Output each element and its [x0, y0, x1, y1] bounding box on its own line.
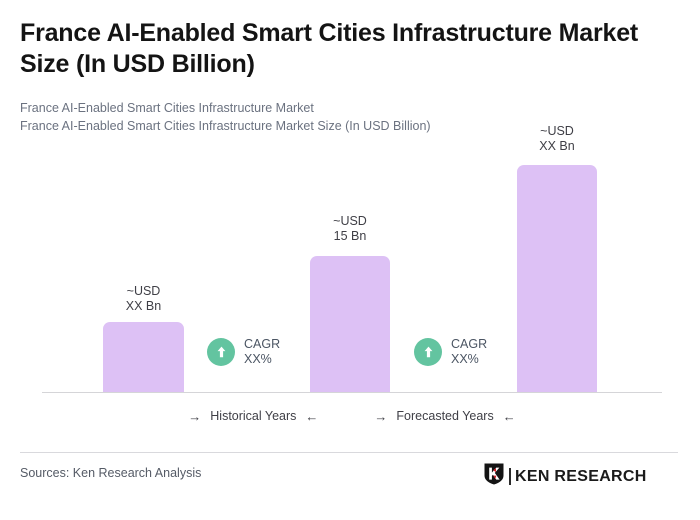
legend-forecasted-years: → Forecasted Years ←: [374, 409, 515, 423]
arrow-up-icon: [414, 338, 442, 366]
logo-divider: [509, 468, 511, 485]
cagr-label-historical: CAGR: [244, 337, 280, 352]
arrow-right-icon: →: [374, 410, 387, 423]
cagr-label-forecast: CAGR: [451, 337, 487, 352]
footer-divider: [20, 452, 678, 453]
chart-page: France AI-Enabled Smart Cities Infrastru…: [0, 0, 700, 520]
x-axis-baseline: [42, 392, 662, 393]
cagr-value-forecast: XX%: [451, 352, 487, 367]
bar-2[interactable]: [310, 256, 390, 392]
bar-value-label-2-line2: 15 Bn: [310, 229, 390, 244]
arrow-left-icon: ←: [305, 410, 318, 423]
bar-value-label-1-line1: ~USD: [103, 284, 184, 299]
ken-research-logo: KEN RESEARCH: [483, 462, 647, 491]
cagr-badge-historical: CAGR XX%: [207, 337, 280, 366]
bar-value-label-1: ~USD XX Bn: [103, 284, 184, 313]
subtitle-line-2: France AI-Enabled Smart Cities Infrastru…: [20, 117, 640, 135]
legend-forecasted-years-label: Forecasted Years: [396, 409, 493, 423]
arrow-right-icon: →: [188, 410, 201, 423]
page-title: France AI-Enabled Smart Cities Infrastru…: [20, 18, 670, 80]
logo-wordmark: KEN RESEARCH: [515, 469, 647, 485]
bar-value-label-2: ~USD 15 Bn: [310, 214, 390, 243]
bar-value-label-3-line2: XX Bn: [517, 139, 597, 154]
cagr-text-forecast: CAGR XX%: [451, 337, 487, 366]
ken-research-shield-icon: [483, 462, 505, 491]
bar-3[interactable]: [517, 165, 597, 392]
sources-text: Sources: Ken Research Analysis: [20, 466, 201, 480]
bar-value-label-1-line2: XX Bn: [103, 299, 184, 314]
arrow-left-icon: ←: [503, 410, 516, 423]
cagr-text-historical: CAGR XX%: [244, 337, 280, 366]
cagr-badge-forecast: CAGR XX%: [414, 337, 487, 366]
subtitle-block: France AI-Enabled Smart Cities Infrastru…: [20, 99, 640, 135]
legend-historical-years-label: Historical Years: [210, 409, 296, 423]
bar-value-label-2-line1: ~USD: [310, 214, 390, 229]
subtitle-line-1: France AI-Enabled Smart Cities Infrastru…: [20, 99, 640, 117]
period-legend: → Historical Years ← → Forecasted Years …: [42, 409, 662, 423]
cagr-value-historical: XX%: [244, 352, 280, 367]
arrow-up-icon: [207, 338, 235, 366]
legend-historical-years: → Historical Years ←: [188, 409, 318, 423]
bar-1[interactable]: [103, 322, 184, 392]
